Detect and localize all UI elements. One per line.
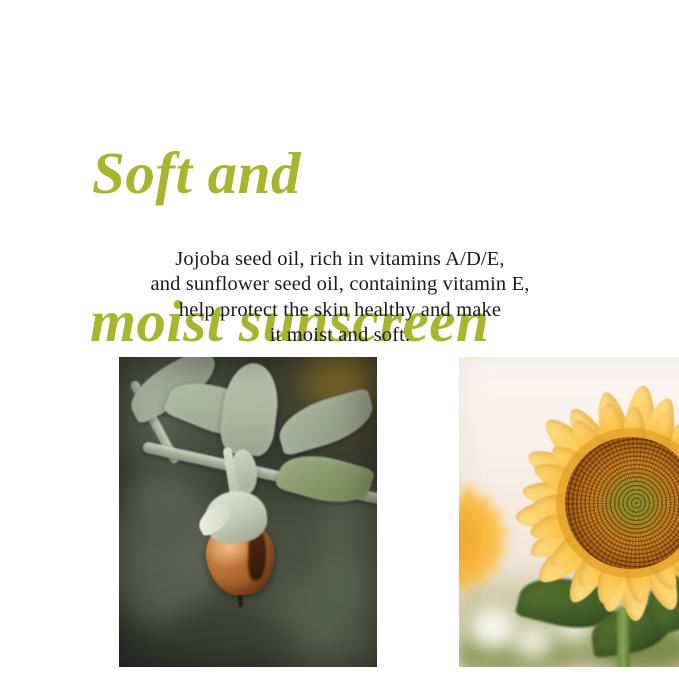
jojoba-leaf — [275, 445, 376, 513]
sunflower-photo — [459, 357, 679, 667]
description-paragraph: Jojoba seed oil, rich in vitamins A/D/E,… — [60, 247, 620, 349]
jojoba-seed-pod — [196, 492, 281, 601]
background-bokeh — [149, 607, 299, 667]
jojoba-seed-photo — [119, 357, 377, 667]
background-bokeh — [269, 567, 377, 667]
background-bokeh — [513, 623, 553, 659]
sunflower-head — [507, 379, 679, 627]
description-line-2: and sunflower seed oil, containing vitam… — [60, 272, 620, 298]
description-line-3: help protect the skin healthy and make — [60, 298, 620, 324]
product-feature-page: Soft and moist sunscreen Jojoba seed oil… — [0, 0, 679, 679]
description-line-1: Jojoba seed oil, rich in vitamins A/D/E, — [60, 247, 620, 273]
jojoba-leaf — [218, 360, 283, 458]
page-title-line-1: Soft and — [92, 137, 610, 211]
jojoba-leaf — [273, 387, 377, 456]
photo-strip — [79, 341, 600, 651]
sunflower-disc-core — [605, 477, 659, 529]
